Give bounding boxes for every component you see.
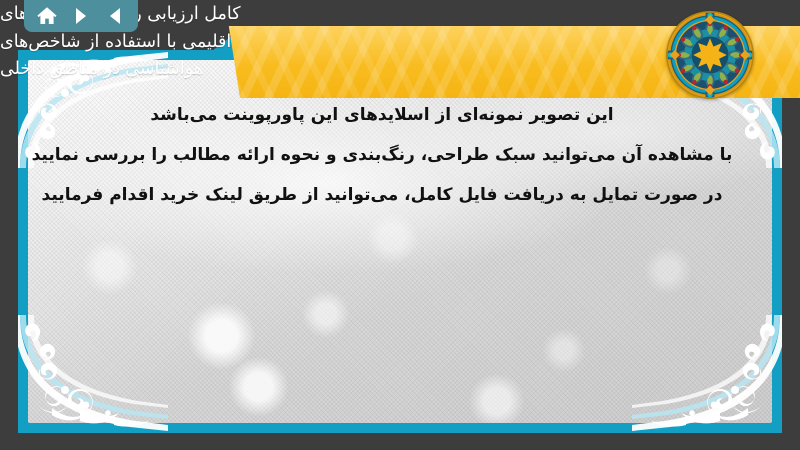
islamic-star-medallion-icon	[666, 11, 754, 99]
navigation-bar	[24, 0, 138, 32]
caret-right-icon	[73, 7, 89, 25]
body-line-1: این تصویر نمونه‌ای از اسلایدهای این پاور…	[28, 95, 736, 135]
home-icon	[37, 7, 57, 26]
body-line-2: با مشاهده آن می‌توانید سبک طراحی، رنگ‌بن…	[28, 135, 736, 175]
slide-frame	[18, 33, 782, 433]
next-slide-button[interactable]	[68, 4, 94, 28]
slide-body-text: این تصویر نمونه‌ای از اسلایدهای این پاور…	[28, 95, 736, 215]
body-line-3: در صورت تمایل به دریافت فایل کامل، می‌تو…	[28, 175, 736, 215]
slide-viewer: این تصویر نمونه‌ای از اسلایدهای این پاور…	[0, 0, 800, 450]
home-button[interactable]	[34, 4, 60, 28]
previous-slide-button[interactable]	[102, 4, 128, 28]
caret-left-icon	[107, 7, 123, 25]
